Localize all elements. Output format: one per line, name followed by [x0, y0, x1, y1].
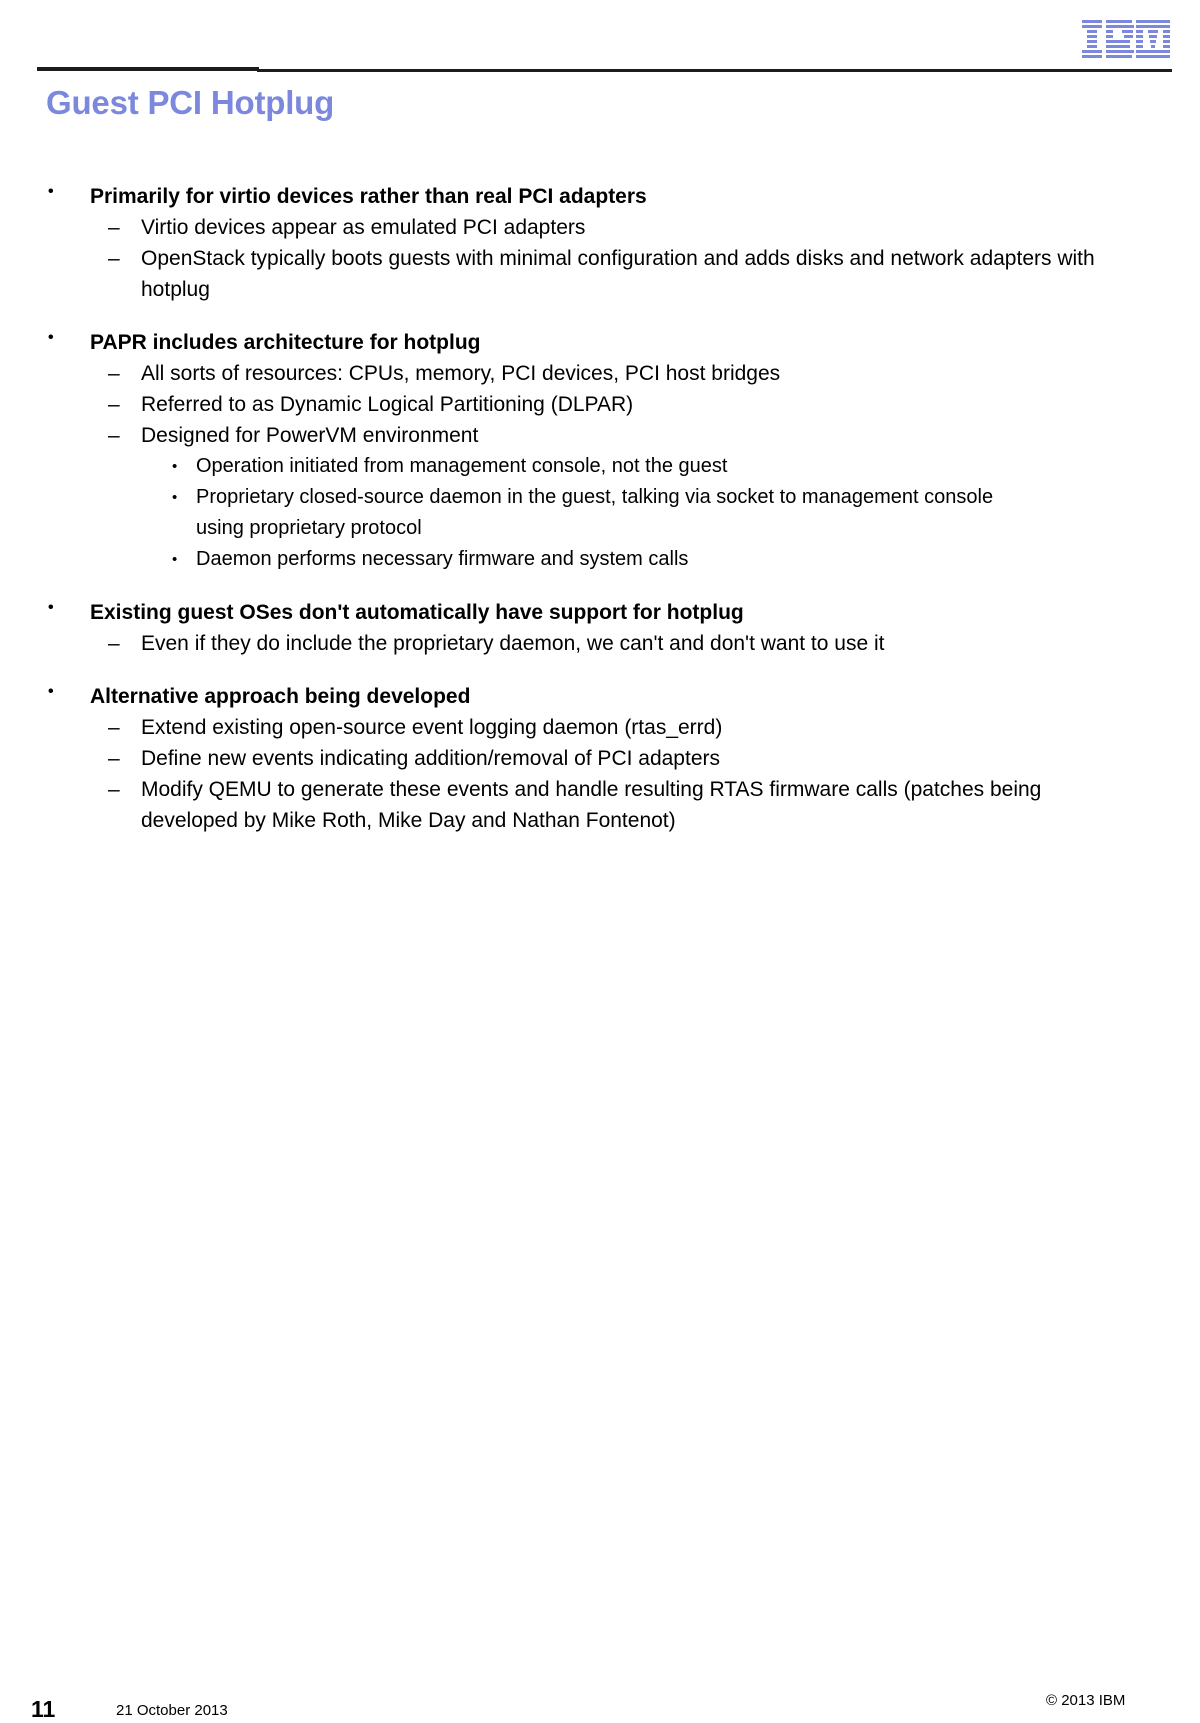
bullet-text-level2: Modify QEMU to generate these events and…	[141, 774, 1105, 836]
bullet-item-level3: •Daemon performs necessary firmware and …	[0, 544, 1200, 575]
bullet-item-level2: –Modify QEMU to generate these events an…	[0, 774, 1200, 836]
slide-body: •Primarily for virtio devices rather tha…	[0, 176, 1200, 836]
dot-marker-icon: •	[48, 676, 54, 707]
bullet-item-level2: –Virtio devices appear as emulated PCI a…	[0, 212, 1200, 243]
dot-marker-icon: •	[48, 592, 54, 623]
slide-date: 21 October 2013	[116, 1701, 228, 1721]
bullet-item-level2: –All sorts of resources: CPUs, memory, P…	[0, 358, 1200, 389]
header-rule-right	[257, 69, 1172, 72]
bullet-group: •PAPR includes architecture for hotplug–…	[0, 322, 1200, 575]
bullet-text-level3: Proprietary closed-source daemon in the …	[196, 482, 1010, 544]
bullet-item-level2: –OpenStack typically boots guests with m…	[0, 243, 1200, 305]
bullet-item-level1: •Primarily for virtio devices rather tha…	[0, 176, 1200, 212]
bullet-text-level2: All sorts of resources: CPUs, memory, PC…	[141, 358, 1105, 389]
dash-marker-icon: –	[108, 358, 120, 389]
bullet-item-level2: –Designed for PowerVM environment	[0, 420, 1200, 451]
bullet-item-level1: •Existing guest OSes don't automatically…	[0, 592, 1200, 628]
bullet-item-level2: –Define new events indicating addition/r…	[0, 743, 1200, 774]
bullet-text-level1: PAPR includes architecture for hotplug	[90, 327, 1200, 358]
page-title: Guest PCI Hotplug	[46, 84, 334, 122]
bullet-text-level1: Primarily for virtio devices rather than…	[90, 181, 1200, 212]
dash-marker-icon: –	[108, 628, 120, 659]
dash-marker-icon: –	[108, 243, 120, 274]
dash-marker-icon: –	[108, 420, 120, 451]
bullet-item-level3: •Proprietary closed-source daemon in the…	[0, 482, 1200, 544]
bullet-text-level2: Even if they do include the proprietary …	[141, 628, 1105, 659]
group-spacer	[0, 305, 1200, 322]
bullet-text-level3: Daemon performs necessary firmware and s…	[196, 544, 1010, 575]
bullet-item-level3: •Operation initiated from management con…	[0, 451, 1200, 482]
dot-marker-icon: •	[48, 176, 54, 207]
bullet-item-level2: –Extend existing open-source event loggi…	[0, 712, 1200, 743]
dash-marker-icon: –	[108, 712, 120, 743]
bullet-item-level1: •Alternative approach being developed	[0, 676, 1200, 712]
bullet-text-level2: Extend existing open-source event loggin…	[141, 712, 1105, 743]
bullet-group: •Primarily for virtio devices rather tha…	[0, 176, 1200, 305]
copyright-notice: © 2013 IBM	[1046, 1691, 1125, 1711]
dash-marker-icon: –	[108, 774, 120, 805]
group-spacer	[0, 659, 1200, 676]
group-spacer	[0, 575, 1200, 592]
bullet-group: •Existing guest OSes don't automatically…	[0, 592, 1200, 659]
bullet-text-level2: OpenStack typically boots guests with mi…	[141, 243, 1105, 305]
bullet-text-level1: Alternative approach being developed	[90, 681, 1200, 712]
ibm-logo	[1080, 18, 1172, 60]
bullet-text-level1: Existing guest OSes don't automatically …	[90, 597, 1200, 628]
dot-marker-icon: •	[172, 482, 177, 513]
bullet-text-level3: Operation initiated from management cons…	[196, 451, 1010, 482]
bullet-text-level2: Define new events indicating addition/re…	[141, 743, 1105, 774]
header-rule-left	[37, 67, 259, 71]
slide-footer: 11 21 October 2013 © 2013 IBM	[0, 840, 1200, 900]
slide-number: 11	[31, 1695, 55, 1723]
dash-marker-icon: –	[108, 389, 120, 420]
dot-marker-icon: •	[172, 451, 177, 482]
dot-marker-icon: •	[48, 322, 54, 353]
bullet-text-level2: Virtio devices appear as emulated PCI ad…	[141, 212, 1105, 243]
bullet-item-level1: •PAPR includes architecture for hotplug	[0, 322, 1200, 358]
bullet-text-level2: Designed for PowerVM environment	[141, 420, 1105, 451]
slide-header	[0, 0, 1200, 80]
bullet-item-level2: –Referred to as Dynamic Logical Partitio…	[0, 389, 1200, 420]
bullet-group: •Alternative approach being developed–Ex…	[0, 676, 1200, 836]
dash-marker-icon: –	[108, 743, 120, 774]
dot-marker-icon: •	[172, 544, 177, 575]
bullet-text-level2: Referred to as Dynamic Logical Partition…	[141, 389, 1105, 420]
bullet-item-level2: –Even if they do include the proprietary…	[0, 628, 1200, 659]
dash-marker-icon: –	[108, 212, 120, 243]
